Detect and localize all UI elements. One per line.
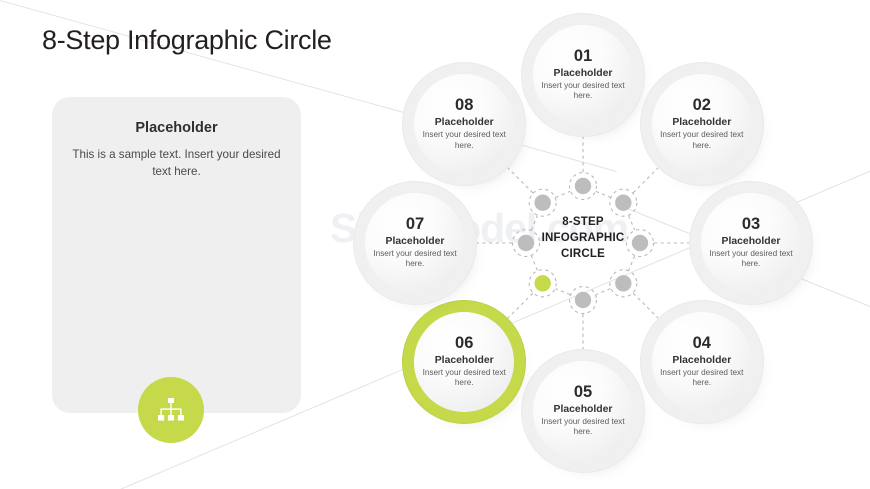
center-line-2: INFOGRAPHIC xyxy=(508,231,658,247)
step-number-06: 06 xyxy=(455,335,473,352)
slide-canvas: SlideModel.com 8-Step Infographic Circle… xyxy=(0,0,870,489)
step-desc-04: Insert your desired text here. xyxy=(659,368,745,389)
step-title-08: Placeholder xyxy=(435,117,494,128)
hub-node-dot-08[interactable] xyxy=(534,194,550,210)
step-bubble-08[interactable]: 08PlaceholderInsert your desired text he… xyxy=(414,74,514,174)
step-title-03: Placeholder xyxy=(722,236,781,247)
step-bubble-06[interactable]: 06PlaceholderInsert your desired text he… xyxy=(414,312,514,412)
step-desc-08: Insert your desired text here. xyxy=(421,130,507,151)
step-desc-06: Insert your desired text here. xyxy=(421,368,507,389)
step-bubble-01[interactable]: 01PlaceholderInsert your desired text he… xyxy=(533,25,633,125)
step-number-07: 07 xyxy=(406,216,424,233)
step-number-01: 01 xyxy=(574,48,592,65)
step-desc-05: Insert your desired text here. xyxy=(540,417,626,438)
step-number-08: 08 xyxy=(455,97,473,114)
hub-node-dot-02[interactable] xyxy=(615,194,631,210)
step-title-02: Placeholder xyxy=(672,117,731,128)
center-line-1: 8-STEP xyxy=(508,215,658,231)
step-bubble-02[interactable]: 02PlaceholderInsert your desired text he… xyxy=(652,74,752,174)
step-number-04: 04 xyxy=(693,335,711,352)
step-title-04: Placeholder xyxy=(672,355,731,366)
hub-node-dot-04[interactable] xyxy=(615,275,631,291)
center-hub-label: 8-STEP INFOGRAPHIC CIRCLE xyxy=(508,215,658,263)
step-number-05: 05 xyxy=(574,384,592,401)
step-number-03: 03 xyxy=(742,216,760,233)
infographic-diagram: 8-STEP INFOGRAPHIC CIRCLE 01PlaceholderI… xyxy=(0,0,870,489)
step-desc-03: Insert your desired text here. xyxy=(708,249,794,270)
step-title-07: Placeholder xyxy=(386,236,445,247)
step-title-05: Placeholder xyxy=(554,404,613,415)
step-bubble-05[interactable]: 05PlaceholderInsert your desired text he… xyxy=(533,361,633,461)
step-title-01: Placeholder xyxy=(554,68,613,79)
step-bubble-03[interactable]: 03PlaceholderInsert your desired text he… xyxy=(701,193,801,293)
step-bubble-04[interactable]: 04PlaceholderInsert your desired text he… xyxy=(652,312,752,412)
hub-node-dot-01[interactable] xyxy=(575,178,591,194)
hub-node-dot-06[interactable] xyxy=(534,275,550,291)
step-desc-07: Insert your desired text here. xyxy=(372,249,458,270)
step-number-02: 02 xyxy=(693,97,711,114)
hub-node-dot-05[interactable] xyxy=(575,292,591,308)
step-bubble-07[interactable]: 07PlaceholderInsert your desired text he… xyxy=(365,193,465,293)
step-title-06: Placeholder xyxy=(435,355,494,366)
step-desc-01: Insert your desired text here. xyxy=(540,81,626,102)
step-desc-02: Insert your desired text here. xyxy=(659,130,745,151)
center-line-3: CIRCLE xyxy=(508,247,658,263)
